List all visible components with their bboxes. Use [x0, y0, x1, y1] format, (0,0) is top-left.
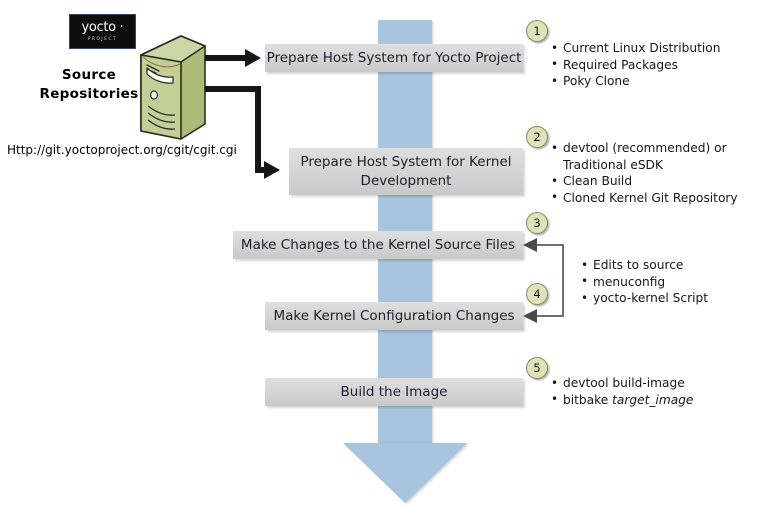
bitbake-target-argument: target_image [612, 393, 693, 407]
list-item: Required Packages [550, 57, 720, 74]
list-item: yocto-kernel Script [580, 290, 708, 307]
logo-subtitle: PROJECT [88, 35, 117, 42]
bullets-steps-3-4: Edits to source menuconfig yocto-kernel … [580, 257, 708, 307]
bracket-connector-arm-step4 [536, 315, 563, 317]
list-item: Poky Clone [550, 73, 720, 90]
list-item: Edits to source [580, 257, 708, 274]
bitbake-command: bitbake [563, 393, 612, 407]
list-item: Clean Build [550, 173, 738, 190]
list-item: bitbake target_image [550, 392, 693, 409]
server-tower-icon [137, 34, 209, 142]
logo-wordmark: yocto · [81, 21, 123, 34]
connector-server-to-step2-line-h1 [205, 86, 261, 92]
bracket-connector-arm-step3 [536, 244, 563, 246]
step-number-3: 3 [526, 212, 548, 234]
bullets-step-2: devtool (recommended) or Traditional eSD… [550, 140, 738, 206]
process-box-make-kernel-config-changes[interactable]: Make Kernel Configuration Changes [265, 302, 523, 330]
process-box-build-image[interactable]: Build the Image [265, 378, 523, 406]
bracket-connector-vertical [562, 244, 564, 317]
step-number-4: 4 [526, 283, 548, 305]
connector-server-to-step1-line [205, 55, 245, 61]
bracket-arrowhead-step3 [523, 238, 537, 252]
step-number-1: 1 [526, 20, 548, 42]
list-item: devtool build-image [550, 375, 693, 392]
process-box-prepare-host-kernel[interactable]: Prepare Host System for Kernel Developme… [289, 148, 523, 195]
connector-server-to-step1-arrowhead [245, 49, 261, 67]
process-box-make-kernel-source-changes[interactable]: Make Changes to the Kernel Source Files [233, 231, 523, 259]
bullets-step-5: devtool build-image bitbake target_image [550, 375, 693, 408]
repository-url: Http://git.yoctoproject.org/cgit/cgit.cg… [7, 143, 237, 157]
bracket-arrowhead-step4 [523, 309, 537, 323]
list-item: Cloned Kernel Git Repository [550, 190, 738, 207]
connector-server-to-step2-arrowhead [264, 161, 280, 179]
bullets-step-1: Current Linux Distribution Required Pack… [550, 40, 720, 90]
list-item: menuconfig [580, 274, 708, 291]
list-item: Current Linux Distribution [550, 40, 720, 57]
source-repositories-label: Source Repositories [34, 66, 144, 104]
process-box-prepare-host-yocto[interactable]: Prepare Host System for Yocto Project [265, 44, 523, 72]
list-item: devtool (recommended) or Traditional eSD… [550, 140, 738, 173]
step-number-2: 2 [526, 126, 548, 148]
step-number-5: 5 [526, 357, 548, 379]
yocto-project-logo: yocto · PROJECT [69, 14, 136, 49]
diagram-canvas: yocto · PROJECT Source Repositories Http… [0, 0, 769, 517]
connector-server-to-step2-line-v [255, 86, 261, 173]
flow-arrow-head [343, 443, 467, 503]
